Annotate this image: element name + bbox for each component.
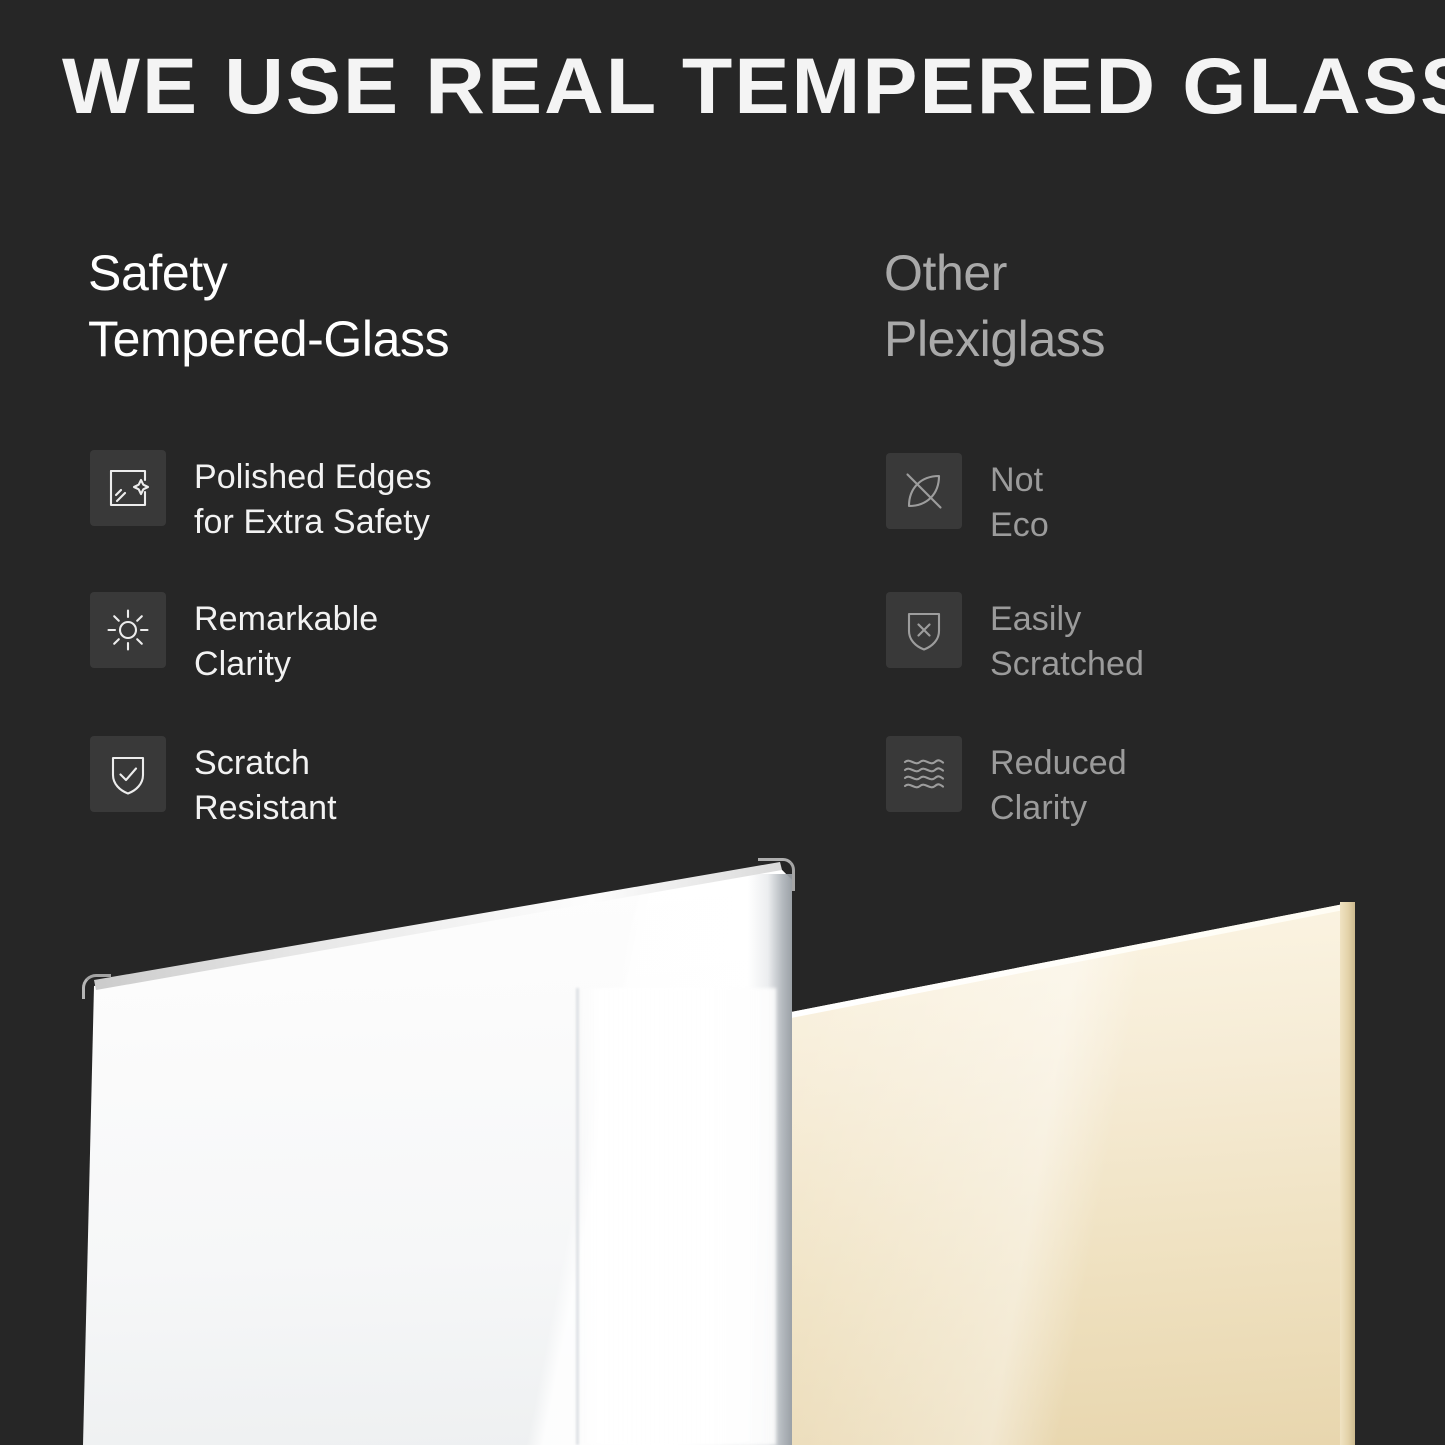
wavy-distortion-lines-icon [886,736,962,812]
column-heading-right: Other Plexiglass [884,240,1105,372]
sun-brightness-icon [90,592,166,668]
column-heading-left-line1: Safety [88,245,227,301]
column-heading-right-line1: Other [884,245,1007,301]
glass-rounded-corner-right [758,858,795,891]
feature-label: Polished Edges for Extra Safety [194,450,432,545]
product-photo-glass-panels [0,840,1445,1445]
feature-row-not-eco: Not Eco [886,453,1049,548]
feature-row-easily-scratched: Easily Scratched [886,592,1144,687]
column-heading-left-line2: Tempered-Glass [88,306,449,372]
feature-label: Remarkable Clarity [194,592,378,687]
page-title: WE USE REAL TEMPERED GLASS [62,42,1445,130]
shield-x-icon [886,592,962,668]
polished-glass-pane-icon [90,450,166,526]
column-heading-right-line2: Plexiglass [884,306,1105,372]
glass-reflection-highlight [578,988,776,1445]
feature-label: Not Eco [990,453,1049,548]
leaf-crossed-out-icon [886,453,962,529]
yellowed-plexiglass-panel [786,840,1354,1445]
feature-label: Easily Scratched [990,592,1144,687]
marketing-comparison-image: WE USE REAL TEMPERED GLASS Safety Temper… [0,0,1445,1445]
feature-row-remarkable-clarity: Remarkable Clarity [90,592,378,687]
plexiglass-right-bevel [1340,902,1355,1445]
shield-check-icon [90,736,166,812]
glass-rounded-corner-left [82,974,111,999]
feature-row-polished-edges: Polished Edges for Extra Safety [90,450,432,545]
column-heading-left: Safety Tempered-Glass [88,240,449,372]
feature-label: Reduced Clarity [990,736,1127,831]
feature-row-reduced-clarity: Reduced Clarity [886,736,1127,831]
feature-label: Scratch Resistant [194,736,337,831]
feature-row-scratch-resistant: Scratch Resistant [90,736,337,831]
